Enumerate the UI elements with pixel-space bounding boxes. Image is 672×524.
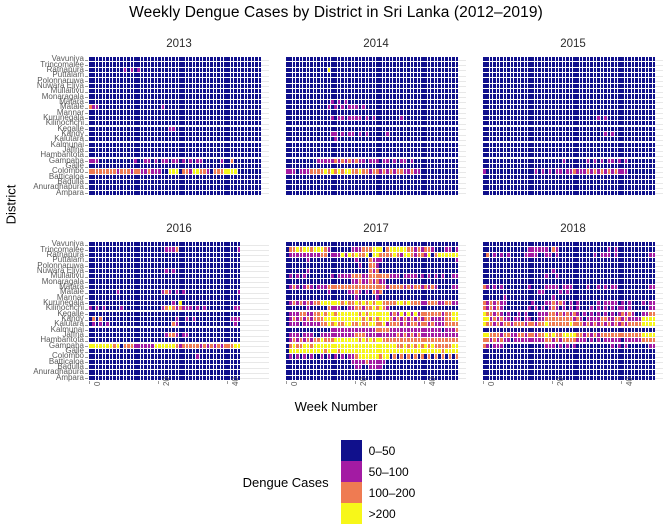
- heatmap-cell: [286, 185, 289, 189]
- heatmap-cell: [117, 143, 120, 147]
- heatmap-cell: [110, 84, 113, 88]
- heatmap-cell: [103, 269, 106, 273]
- heatmap-cell: [618, 100, 621, 104]
- heatmap-cell: [252, 164, 255, 168]
- heatmap-cell: [528, 73, 531, 77]
- heatmap-cell: [359, 127, 362, 131]
- heatmap-cell: [179, 349, 182, 353]
- heatmap-cell: [369, 89, 372, 93]
- heatmap-cell: [165, 62, 168, 66]
- heatmap-cell: [552, 175, 555, 179]
- heatmap-cell: [556, 185, 559, 189]
- heatmap-cell: [134, 354, 137, 358]
- heatmap-cell: [456, 185, 459, 189]
- heatmap-cell: [552, 191, 555, 195]
- heatmap-cell: [89, 105, 92, 109]
- heatmap-cell: [207, 89, 210, 93]
- heatmap-cell: [172, 143, 175, 147]
- heatmap-cell: [172, 312, 175, 316]
- heatmap-cell: [124, 116, 127, 120]
- heatmap-cell: [203, 354, 206, 358]
- heatmap-cell: [307, 110, 310, 114]
- heatmap-cell: [535, 127, 538, 131]
- heatmap-cell: [615, 105, 618, 109]
- heatmap-cell: [227, 269, 230, 273]
- heatmap-cell: [172, 258, 175, 262]
- heatmap-cell: [445, 137, 448, 141]
- heatmap-cell: [362, 121, 365, 125]
- heatmap-cell: [352, 89, 355, 93]
- heatmap-cell: [144, 137, 147, 141]
- heatmap-cell: [193, 73, 196, 77]
- heatmap-cell: [379, 137, 382, 141]
- heatmap-cell: [162, 269, 165, 273]
- heatmap-cell: [639, 84, 642, 88]
- heatmap-cell: [179, 78, 182, 82]
- heatmap-cell: [96, 185, 99, 189]
- heatmap-cell: [314, 127, 317, 131]
- heatmap-cell: [137, 269, 140, 273]
- heatmap-cell: [317, 180, 320, 184]
- heatmap-cell: [483, 94, 486, 98]
- heatmap-cell: [110, 258, 113, 262]
- heatmap-cell: [158, 354, 161, 358]
- heatmap-cell: [421, 175, 424, 179]
- heatmap-cell: [89, 110, 92, 114]
- heatmap-cell: [203, 328, 206, 332]
- heatmap-cell: [511, 121, 514, 125]
- heatmap-cell: [542, 62, 545, 66]
- heatmap-cell: [207, 143, 210, 147]
- heatmap-cell: [525, 73, 528, 77]
- heatmap-cell: [117, 312, 120, 316]
- heatmap-cell: [227, 354, 230, 358]
- heatmap-cell: [404, 164, 407, 168]
- heatmap-cell: [224, 344, 227, 348]
- heatmap-cell: [341, 127, 344, 131]
- heatmap-cell: [200, 169, 203, 173]
- heatmap-cell: [556, 62, 559, 66]
- heatmap-cell: [151, 253, 154, 257]
- heatmap-cell: [134, 143, 137, 147]
- heatmap-cell: [245, 121, 248, 125]
- heatmap-cell: [137, 306, 140, 310]
- heatmap-cell: [369, 116, 372, 120]
- heatmap-cell: [144, 105, 147, 109]
- heatmap-cell: [338, 180, 341, 184]
- heatmap-cell: [604, 110, 607, 114]
- heatmap-cell: [594, 164, 597, 168]
- heatmap-cell: [379, 175, 382, 179]
- heatmap-cell: [486, 62, 489, 66]
- heatmap-cell: [355, 153, 358, 157]
- facet-strip-2014: 2014: [286, 38, 466, 50]
- heatmap-cell: [255, 180, 258, 184]
- heatmap-cell: [144, 301, 147, 305]
- heatmap-cell: [221, 105, 224, 109]
- heatmap-cell: [632, 121, 635, 125]
- heatmap-cell: [179, 191, 182, 195]
- heatmap-cell: [421, 100, 424, 104]
- heatmap-cell: [649, 116, 652, 120]
- heatmap-cell: [189, 164, 192, 168]
- heatmap-cell: [552, 84, 555, 88]
- heatmap-cell: [131, 84, 134, 88]
- heatmap-cell: [528, 153, 531, 157]
- heatmap-cell: [189, 57, 192, 61]
- heatmap-cell: [286, 94, 289, 98]
- heatmap-cell: [165, 338, 168, 342]
- heatmap-cell: [449, 127, 452, 131]
- heatmap-cell: [490, 62, 493, 66]
- heatmap-cell: [165, 164, 168, 168]
- heatmap-cell: [176, 306, 179, 310]
- heatmap-cell: [148, 121, 151, 125]
- heatmap-cell: [414, 169, 417, 173]
- heatmap-cell: [545, 57, 548, 61]
- heatmap-cell: [137, 344, 140, 348]
- heatmap-cell: [131, 247, 134, 251]
- heatmap-cell: [238, 175, 241, 179]
- heatmap-cell: [435, 110, 438, 114]
- heatmap-cell: [172, 263, 175, 267]
- heatmap-cell: [303, 137, 306, 141]
- heatmap-cell: [231, 137, 234, 141]
- heatmap-cell: [362, 191, 365, 195]
- heatmap-cell: [169, 191, 172, 195]
- heatmap-cell: [169, 263, 172, 267]
- heatmap-cell: [113, 349, 116, 353]
- heatmap-cell: [386, 100, 389, 104]
- heatmap-cell: [556, 78, 559, 82]
- heatmap-cell: [500, 100, 503, 104]
- heatmap-cell: [324, 153, 327, 157]
- heatmap-cell: [96, 143, 99, 147]
- heatmap-cell: [597, 78, 600, 82]
- heatmap-cell: [404, 73, 407, 77]
- heatmap-cell: [379, 94, 382, 98]
- heatmap-cell: [500, 68, 503, 72]
- heatmap-cell: [310, 159, 313, 163]
- heatmap-cell: [456, 78, 459, 82]
- heatmap-cell: [137, 148, 140, 152]
- heatmap-cell: [449, 94, 452, 98]
- heatmap-cell: [200, 121, 203, 125]
- heatmap-cell: [580, 137, 583, 141]
- heatmap-cell: [331, 57, 334, 61]
- heatmap-cell: [245, 89, 248, 93]
- heatmap-cell: [131, 153, 134, 157]
- heatmap-cell: [328, 105, 331, 109]
- heatmap-cell: [611, 137, 614, 141]
- heatmap-cell: [189, 105, 192, 109]
- heatmap-cell: [179, 338, 182, 342]
- heatmap-cell: [338, 121, 341, 125]
- heatmap-cell: [583, 148, 586, 152]
- heatmap-cell: [103, 191, 106, 195]
- heatmap-cell: [134, 164, 137, 168]
- heatmap-cell: [635, 185, 638, 189]
- heatmap-cell: [445, 89, 448, 93]
- heatmap-cell: [176, 159, 179, 163]
- heatmap-cell: [252, 94, 255, 98]
- heatmap-cell: [542, 137, 545, 141]
- heatmap-cell: [587, 110, 590, 114]
- heatmap-cell: [203, 185, 206, 189]
- heatmap-cell: [155, 78, 158, 82]
- heatmap-cell: [110, 137, 113, 141]
- heatmap-cell: [172, 84, 175, 88]
- heatmap-cell: [500, 127, 503, 131]
- heatmap-cell: [618, 68, 621, 72]
- heatmap-cell: [604, 164, 607, 168]
- heatmap-cell: [563, 121, 566, 125]
- heatmap-cell: [217, 344, 220, 348]
- heatmap-cell: [179, 333, 182, 337]
- heatmap-cell: [186, 127, 189, 131]
- heatmap-cell: [393, 110, 396, 114]
- heatmap-cell: [611, 62, 614, 66]
- heatmap-cell: [601, 164, 604, 168]
- heatmap-cell: [542, 127, 545, 131]
- heatmap-cell: [632, 68, 635, 72]
- heatmap-cell: [321, 78, 324, 82]
- heatmap-cell: [414, 164, 417, 168]
- heatmap-cell: [203, 68, 206, 72]
- heatmap-cell: [179, 285, 182, 289]
- heatmap-cell: [373, 175, 376, 179]
- heatmap-cell: [92, 159, 95, 163]
- heatmap-cell: [172, 62, 175, 66]
- heatmap-cell: [221, 306, 224, 310]
- heatmap-cell: [594, 57, 597, 61]
- heatmap-cell: [317, 105, 320, 109]
- heatmap-cell: [158, 62, 161, 66]
- heatmap-cell: [445, 105, 448, 109]
- heatmap-cell: [383, 185, 386, 189]
- heatmap-cell: [649, 105, 652, 109]
- heatmap-cell: [400, 127, 403, 131]
- heatmap-cell: [538, 105, 541, 109]
- heatmap-cell: [221, 143, 224, 147]
- heatmap-cell: [552, 180, 555, 184]
- heatmap-cell: [379, 169, 382, 173]
- heatmap-cell: [148, 328, 151, 332]
- heatmap-cell: [352, 175, 355, 179]
- heatmap-cell: [176, 242, 179, 246]
- heatmap-cell: [348, 105, 351, 109]
- heatmap-cell: [407, 89, 410, 93]
- heatmap-cell: [131, 132, 134, 136]
- heatmap-cell: [96, 360, 99, 364]
- heatmap-cell: [355, 62, 358, 66]
- heatmap-cell: [113, 322, 116, 326]
- heatmap-cell: [359, 153, 362, 157]
- heatmap-cell: [200, 295, 203, 299]
- heatmap-cell: [428, 73, 431, 77]
- heatmap-cell: [328, 116, 331, 120]
- heatmap-cell: [134, 100, 137, 104]
- heatmap-cell: [486, 137, 489, 141]
- heatmap-cell: [162, 242, 165, 246]
- heatmap-cell: [635, 121, 638, 125]
- heatmap-cell: [99, 274, 102, 278]
- heatmap-cell: [245, 57, 248, 61]
- heatmap-cell: [234, 121, 237, 125]
- heatmap-cell: [411, 185, 414, 189]
- heatmap-cell: [400, 68, 403, 72]
- heatmap-cell: [411, 159, 414, 163]
- heatmap-cell: [131, 185, 134, 189]
- heatmap-cell: [397, 57, 400, 61]
- heatmap-cell: [649, 169, 652, 173]
- heatmap-cell: [99, 263, 102, 267]
- heatmap-cell: [414, 127, 417, 131]
- heatmap-cell: [238, 344, 241, 348]
- heatmap-cell: [317, 169, 320, 173]
- heatmap-cell: [106, 344, 109, 348]
- heatmap-cell: [438, 73, 441, 77]
- heatmap-cell: [89, 349, 92, 353]
- heatmap-cell: [431, 89, 434, 93]
- heatmap-cell: [182, 279, 185, 283]
- heatmap-cell: [193, 180, 196, 184]
- heatmap-cell: [580, 164, 583, 168]
- heatmap-cell: [210, 344, 213, 348]
- heatmap-cell: [210, 159, 213, 163]
- heatmap-cell: [200, 137, 203, 141]
- heatmap-cell: [397, 94, 400, 98]
- heatmap-cell: [89, 78, 92, 82]
- heatmap-cell: [165, 84, 168, 88]
- heatmap-cell: [210, 263, 213, 267]
- heatmap-cell: [625, 127, 628, 131]
- heatmap-cell: [103, 247, 106, 251]
- heatmap-cell: [151, 263, 154, 267]
- heatmap-cell: [369, 57, 372, 61]
- heatmap-cell: [196, 132, 199, 136]
- heatmap-cell: [89, 312, 92, 316]
- heatmap-cell: [241, 78, 244, 82]
- heatmap-cell: [428, 169, 431, 173]
- heatmap-cell: [162, 78, 165, 82]
- heatmap-cell: [570, 148, 573, 152]
- heatmap-cell: [131, 312, 134, 316]
- heatmap-cell: [334, 132, 337, 136]
- heatmap-cell: [362, 62, 365, 66]
- heatmap-cell: [414, 143, 417, 147]
- heatmap-cell: [289, 116, 292, 120]
- heatmap-cell: [293, 180, 296, 184]
- heatmap-cell: [96, 68, 99, 72]
- heatmap-cell: [151, 57, 154, 61]
- heatmap-cell: [456, 121, 459, 125]
- heatmap-cell: [493, 164, 496, 168]
- heatmap-cell: [359, 73, 362, 77]
- heatmap-cell: [165, 301, 168, 305]
- heatmap-cell: [151, 78, 154, 82]
- heatmap-cell: [314, 180, 317, 184]
- heatmap-cell: [635, 73, 638, 77]
- heatmap-cell: [224, 164, 227, 168]
- heatmap-cell: [352, 137, 355, 141]
- heatmap-cell: [418, 105, 421, 109]
- heatmap-cell: [165, 290, 168, 294]
- heatmap-cell: [317, 175, 320, 179]
- heatmap-cell: [604, 105, 607, 109]
- heatmap-cell: [418, 153, 421, 157]
- heatmap-cell: [314, 159, 317, 163]
- heatmap-cell: [393, 180, 396, 184]
- heatmap-cell: [179, 62, 182, 66]
- heatmap-cell: [611, 94, 614, 98]
- heatmap-cell: [148, 180, 151, 184]
- heatmap-cell: [493, 89, 496, 93]
- heatmap-cell: [134, 269, 137, 273]
- heatmap-cell: [590, 110, 593, 114]
- heatmap-cell: [373, 191, 376, 195]
- heatmap-cell: [241, 191, 244, 195]
- heatmap-cell: [338, 116, 341, 120]
- heatmap-cell: [314, 84, 317, 88]
- heatmap-cell: [635, 143, 638, 147]
- heatmap-cell: [207, 68, 210, 72]
- heatmap-cell: [359, 185, 362, 189]
- heatmap-cell: [397, 137, 400, 141]
- heatmap-cell: [438, 84, 441, 88]
- heatmap-cell: [518, 148, 521, 152]
- heatmap-cell: [452, 110, 455, 114]
- heatmap-cell: [521, 73, 524, 77]
- heatmap-cell: [151, 73, 154, 77]
- heatmap-cell: [231, 169, 234, 173]
- heatmap-cell: [545, 105, 548, 109]
- heatmap-cell: [397, 191, 400, 195]
- heatmap-cell: [597, 164, 600, 168]
- heatmap-cell: [248, 132, 251, 136]
- heatmap-cell: [120, 338, 123, 342]
- heatmap-cell: [400, 175, 403, 179]
- heatmap-cell: [196, 84, 199, 88]
- heatmap-cell: [155, 242, 158, 246]
- heatmap-cell: [376, 191, 379, 195]
- heatmap-cell: [525, 62, 528, 66]
- heatmap-cell: [227, 57, 230, 61]
- heatmap-cell: [493, 57, 496, 61]
- heatmap-cell: [231, 153, 234, 157]
- heatmap-cell: [148, 57, 151, 61]
- heatmap-cell: [89, 143, 92, 147]
- heatmap-cell: [124, 295, 127, 299]
- heatmap-cell: [127, 258, 130, 262]
- heatmap-cell: [151, 169, 154, 173]
- heatmap-cell: [397, 121, 400, 125]
- heatmap-cell: [141, 68, 144, 72]
- heatmap-cell: [227, 301, 230, 305]
- heatmap-cell: [259, 94, 262, 98]
- heatmap-cell: [635, 68, 638, 72]
- heatmap-cell: [418, 89, 421, 93]
- heatmap-cell: [321, 110, 324, 114]
- heatmap-cell: [621, 159, 624, 163]
- heatmap-cell: [486, 132, 489, 136]
- heatmap-cell: [210, 354, 213, 358]
- heatmap-cell: [393, 100, 396, 104]
- heatmap-cell: [221, 338, 224, 342]
- heatmap-cell: [549, 127, 552, 131]
- heatmap-cell: [137, 89, 140, 93]
- heatmap-cell: [289, 169, 292, 173]
